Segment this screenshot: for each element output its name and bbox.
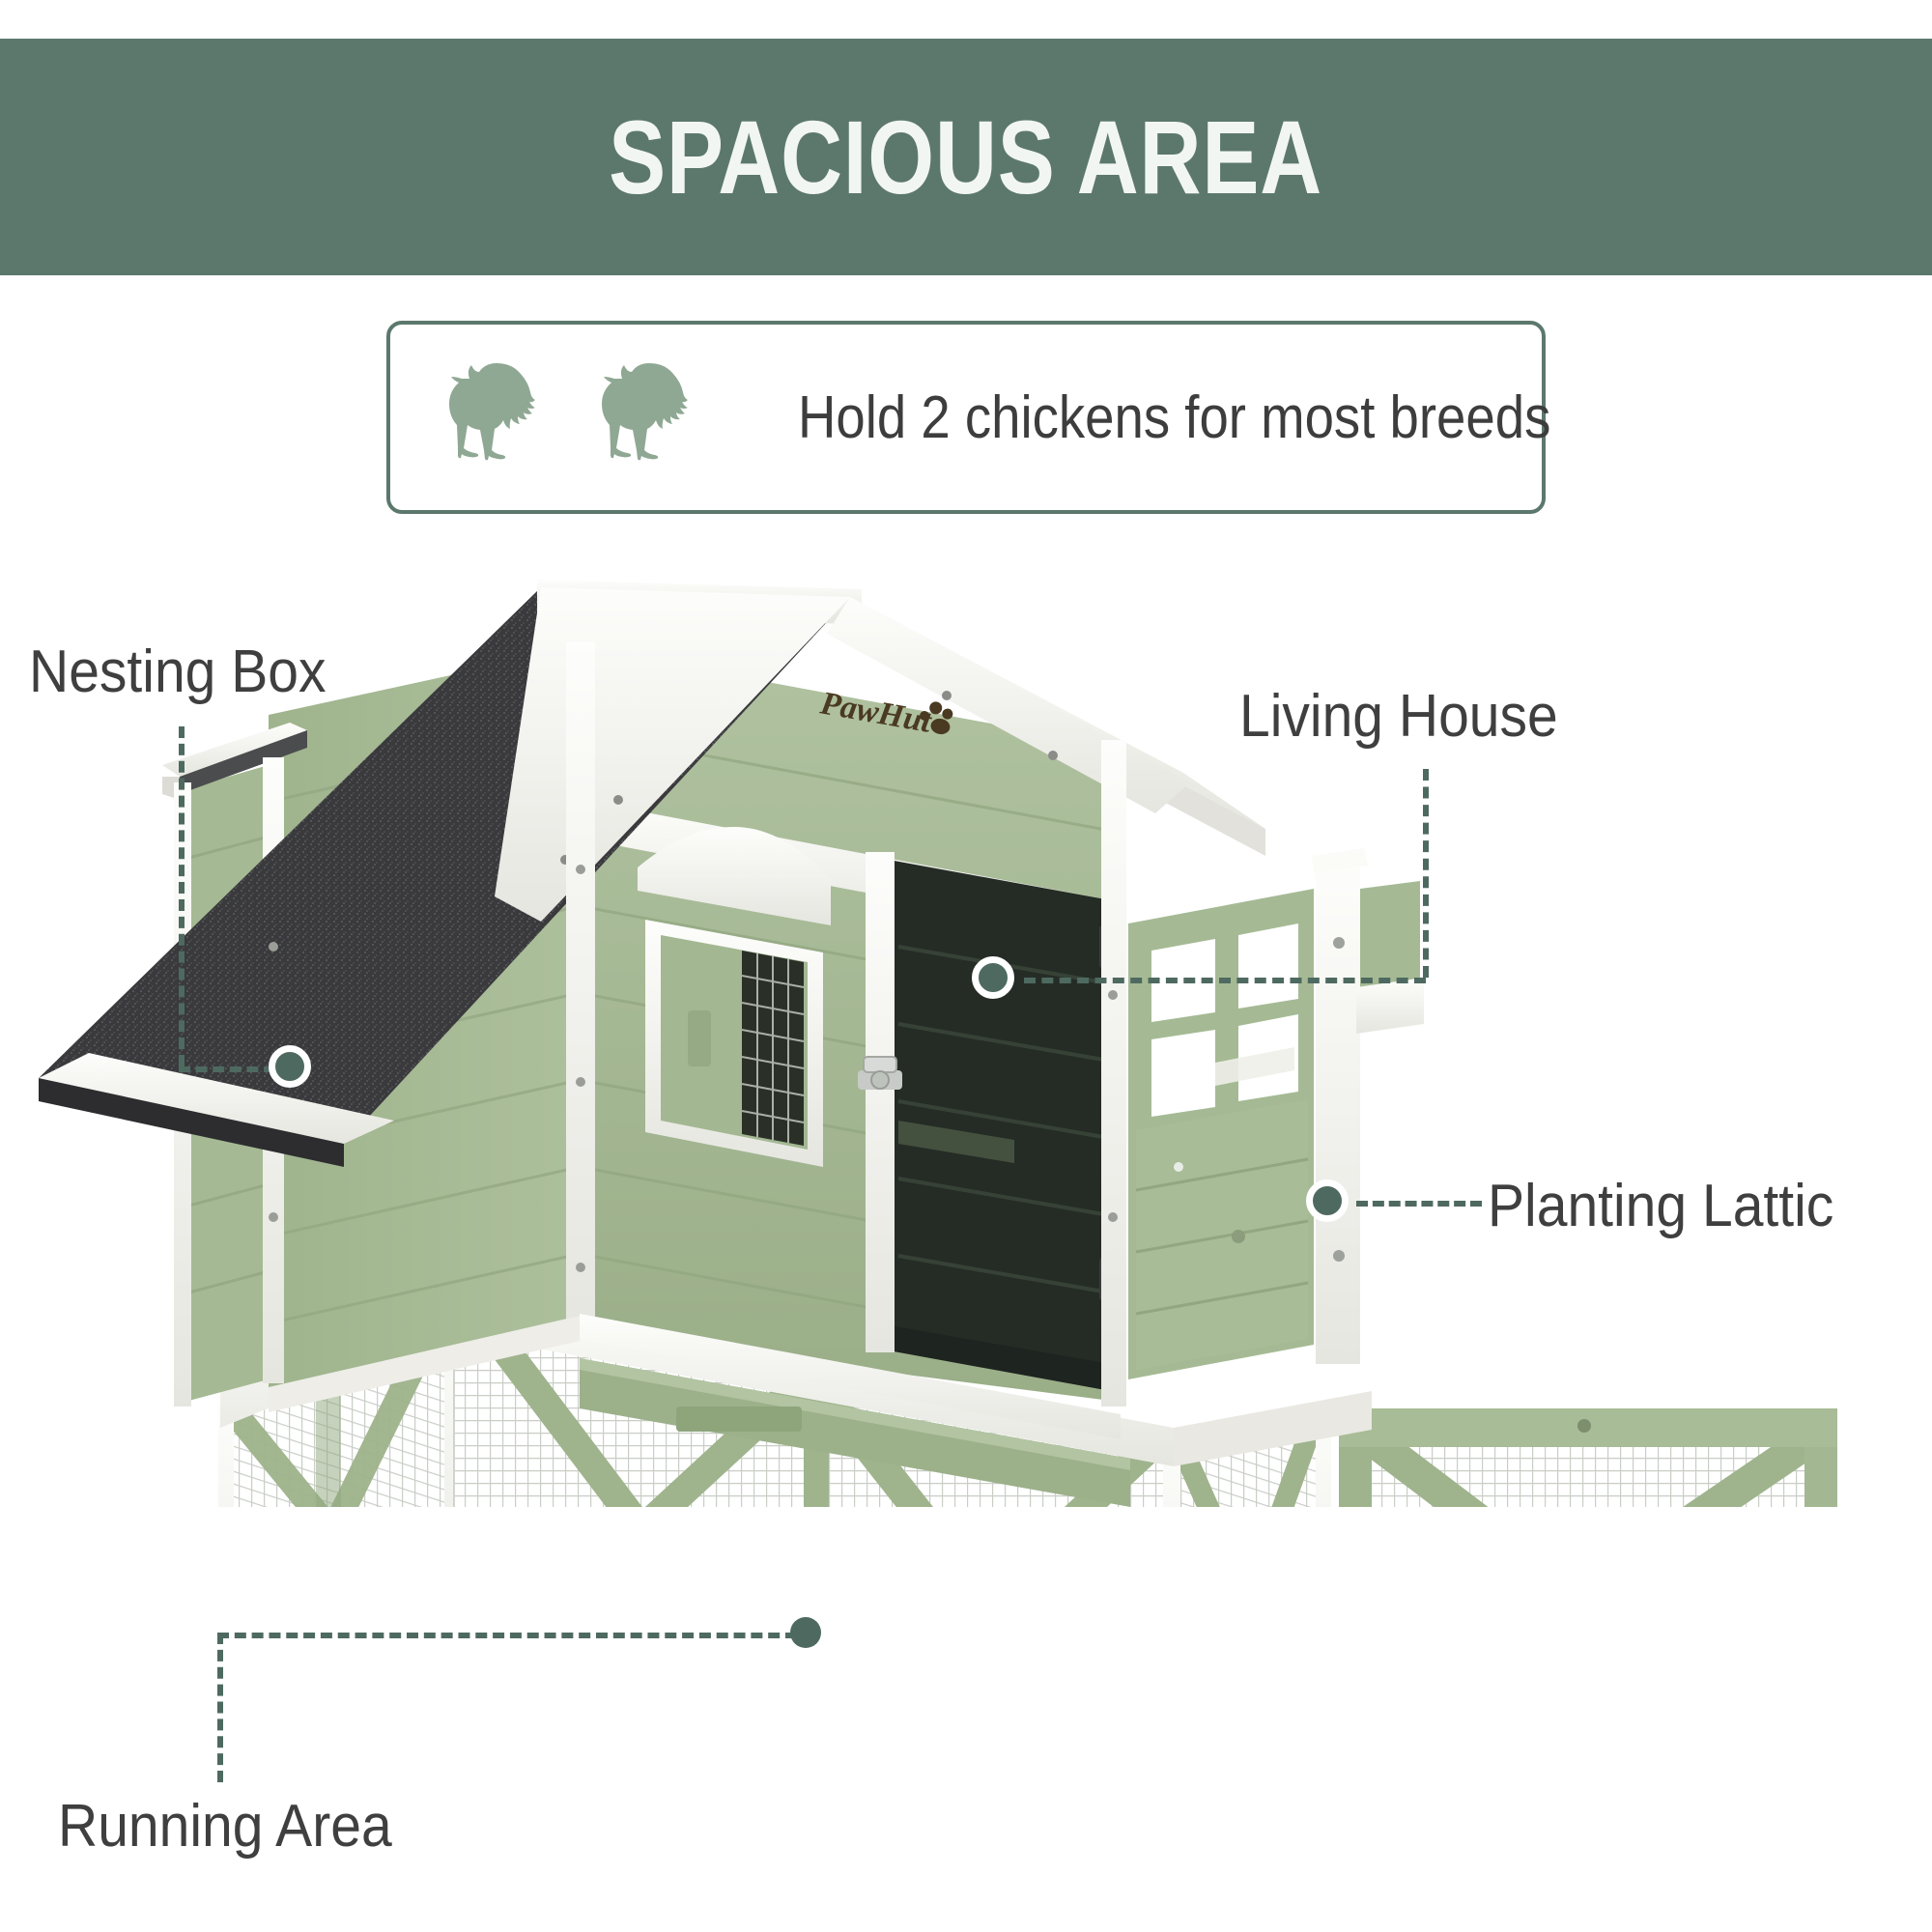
chicken-silhouette-icon <box>440 350 556 485</box>
capacity-badge: Hold 2 chickens for most breeds <box>386 321 1546 514</box>
door-latch <box>858 1057 902 1090</box>
deck-corner-post <box>1312 848 1368 1364</box>
callout-label-nesting-box: Nesting Box <box>29 638 327 706</box>
infographic-page: SPACIOUS AREA Hold 2 chickens for most b… <box>0 0 1932 1932</box>
leader-line-nesting-box-horizontal <box>179 1066 275 1072</box>
planting-lattice <box>1128 889 1314 1379</box>
house-window <box>638 827 831 1167</box>
capacity-text: Hold 2 chickens for most breeds <box>798 384 1550 452</box>
leader-line-nesting-box-vertical <box>179 726 185 1066</box>
page-title: SPACIOUS AREA <box>610 105 1323 210</box>
header-banner: SPACIOUS AREA <box>0 39 1932 275</box>
chicken-silhouette-icon <box>593 350 709 485</box>
callout-label-planting-lattic: Planting Lattic <box>1488 1172 1833 1240</box>
leader-line-running-area-vertical <box>217 1633 223 1782</box>
leader-line-planting-lattic <box>1356 1201 1482 1207</box>
callout-label-living-house: Living House <box>1239 682 1558 751</box>
leader-line-living-house-horizontal <box>1024 978 1426 983</box>
chicken-icon-group <box>440 350 709 485</box>
leader-line-living-house-vertical <box>1423 769 1429 978</box>
leader-line-running-area-horizontal <box>217 1633 797 1638</box>
living-house-opening <box>889 860 1111 1391</box>
callout-dot-planting-lattic <box>1306 1179 1349 1222</box>
callout-dot-living-house <box>972 956 1014 999</box>
callout-dot-running-area <box>790 1617 821 1648</box>
callout-label-running-area: Running Area <box>58 1792 392 1861</box>
run-gate <box>1339 1408 1837 1507</box>
callout-dot-nesting-box <box>269 1045 311 1088</box>
